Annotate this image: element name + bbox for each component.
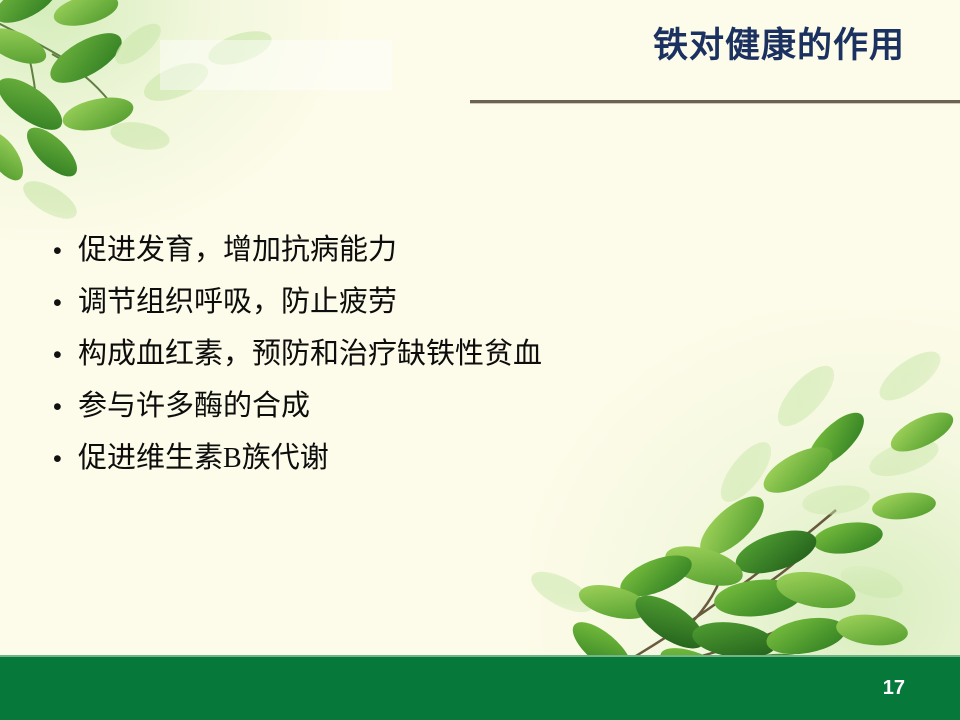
top-left-leaf-glow bbox=[0, 0, 340, 240]
bullet-list: • 促进发育，增加抗病能力 • 调节组织呼吸，防止疲劳 • 构成血红素，预防和治… bbox=[44, 236, 904, 496]
bullet-marker-icon: • bbox=[44, 395, 78, 420]
bullet-text: 参与许多酶的合成 bbox=[78, 392, 310, 421]
bullet-text: 促进发育，增加抗病能力 bbox=[78, 236, 397, 265]
bullet-text: 促进维生素B族代谢 bbox=[78, 444, 329, 473]
title-divider-rule-shadow bbox=[470, 103, 960, 104]
bullet-text-latin: B bbox=[223, 443, 242, 474]
leaves-decoration-top-left bbox=[0, 0, 310, 246]
bullet-marker-icon: • bbox=[44, 447, 78, 472]
page-number: 17 bbox=[883, 677, 905, 700]
page-title: 铁对健康的作用 bbox=[653, 26, 905, 66]
bullet-text-pre: 促进维生素 bbox=[78, 442, 223, 474]
list-item: • 促进发育，增加抗病能力 bbox=[44, 236, 904, 288]
bullet-marker-icon: • bbox=[44, 239, 78, 264]
list-item: • 促进维生素B族代谢 bbox=[44, 444, 904, 496]
bullet-marker-icon: • bbox=[44, 291, 78, 316]
list-item: • 参与许多酶的合成 bbox=[44, 392, 904, 444]
bullet-text: 调节组织呼吸，防止疲劳 bbox=[78, 288, 397, 317]
list-item: • 构成血红素，预防和治疗缺铁性贫血 bbox=[44, 340, 904, 392]
bullet-text-post: 族代谢 bbox=[242, 442, 329, 474]
presentation-slide: 铁对健康的作用 • 促进发育，增加抗病能力 • 调节组织呼吸，防止疲劳 • 构成… bbox=[0, 0, 960, 720]
bullet-text: 构成血红素，预防和治疗缺铁性贫血 bbox=[78, 340, 542, 369]
title-backdrop-plate bbox=[160, 40, 392, 90]
footer-bar: 17 bbox=[0, 657, 960, 720]
bullet-marker-icon: • bbox=[44, 343, 78, 368]
list-item: • 调节组织呼吸，防止疲劳 bbox=[44, 288, 904, 340]
